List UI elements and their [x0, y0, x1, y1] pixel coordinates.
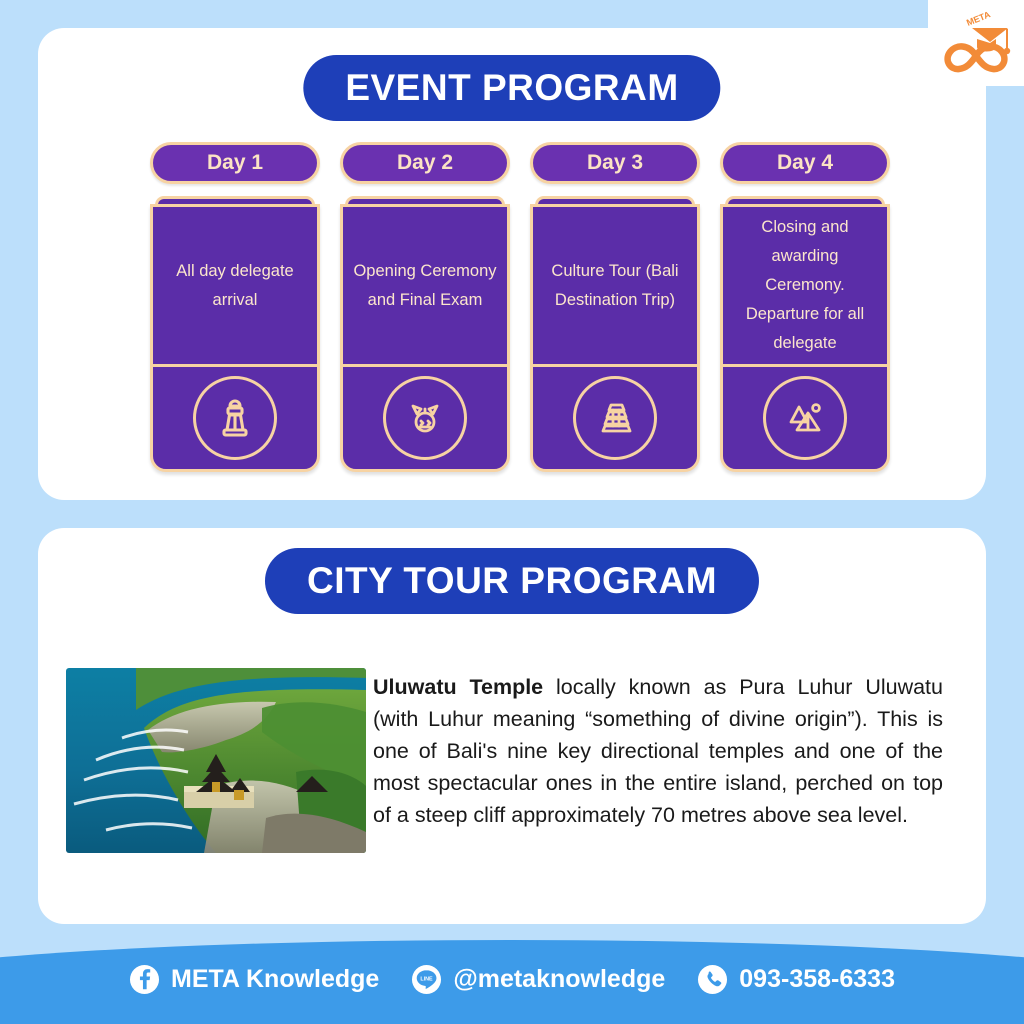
day-icon-wrap-4 — [723, 367, 887, 469]
day-card-3[interactable]: Day 3 Culture Tour (Bali Destination Tri… — [530, 142, 700, 472]
svg-text:LINE: LINE — [421, 976, 434, 982]
uluwatu-description: Uluwatu Temple locally known as Pura Luh… — [373, 671, 943, 831]
pagoda-temple-icon — [591, 394, 639, 442]
page-title-city-tour-program: CITY TOUR PROGRAM — [265, 548, 759, 614]
footer-phone-label: 093-358-6333 — [739, 965, 895, 994]
uluwatu-description-lead: Uluwatu Temple — [373, 675, 543, 699]
uluwatu-temple-illustration — [66, 668, 366, 853]
day-description-2: Opening Ceremony and Final Exam — [343, 207, 507, 367]
day-icon-wrap-3 — [533, 367, 697, 469]
event-day-cards: Day 1 All day delegate arrival — [150, 142, 890, 472]
day-description-1: All day delegate arrival — [153, 207, 317, 367]
facebook-icon — [129, 964, 160, 995]
day-card-4[interactable]: Day 4 Closing and awarding Ceremony. Dep… — [720, 142, 890, 472]
day-description-3: Culture Tour (Bali Destination Trip) — [533, 207, 697, 367]
day-icon-wrap-2 — [343, 367, 507, 469]
phone-icon — [697, 964, 728, 995]
footer-bar: META Knowledge LINE @metaknowledge 093-3… — [0, 934, 1024, 1024]
day-label-1: Day 1 — [150, 142, 320, 184]
page-title-event-program: EVENT PROGRAM — [303, 55, 720, 121]
footer-phone[interactable]: 093-358-6333 — [697, 964, 895, 995]
day-label-3: Day 3 — [530, 142, 700, 184]
footer-facebook-label: META Knowledge — [171, 965, 379, 994]
day-label-4: Day 4 — [720, 142, 890, 184]
footer-line[interactable]: LINE @metaknowledge — [411, 964, 665, 995]
graduation-infinity-icon: META — [934, 6, 1018, 80]
day-label-2: Day 2 — [340, 142, 510, 184]
day-card-2[interactable]: Day 2 Opening Ceremony and Final Exam — [340, 142, 510, 472]
pyramids-sun-icon — [781, 394, 829, 442]
meta-knowledge-logo: META — [928, 0, 1024, 86]
footer-facebook[interactable]: META Knowledge — [129, 964, 379, 995]
footer-line-label: @metaknowledge — [453, 965, 665, 994]
balloon-celebration-icon — [401, 394, 449, 442]
uluwatu-temple-photo — [66, 668, 366, 853]
svg-text:META: META — [965, 9, 992, 28]
lighthouse-icon — [211, 394, 259, 442]
day-icon-wrap-1 — [153, 367, 317, 469]
day-description-4: Closing and awarding Ceremony. Departure… — [723, 207, 887, 367]
day-card-1[interactable]: Day 1 All day delegate arrival — [150, 142, 320, 472]
line-icon: LINE — [411, 964, 442, 995]
